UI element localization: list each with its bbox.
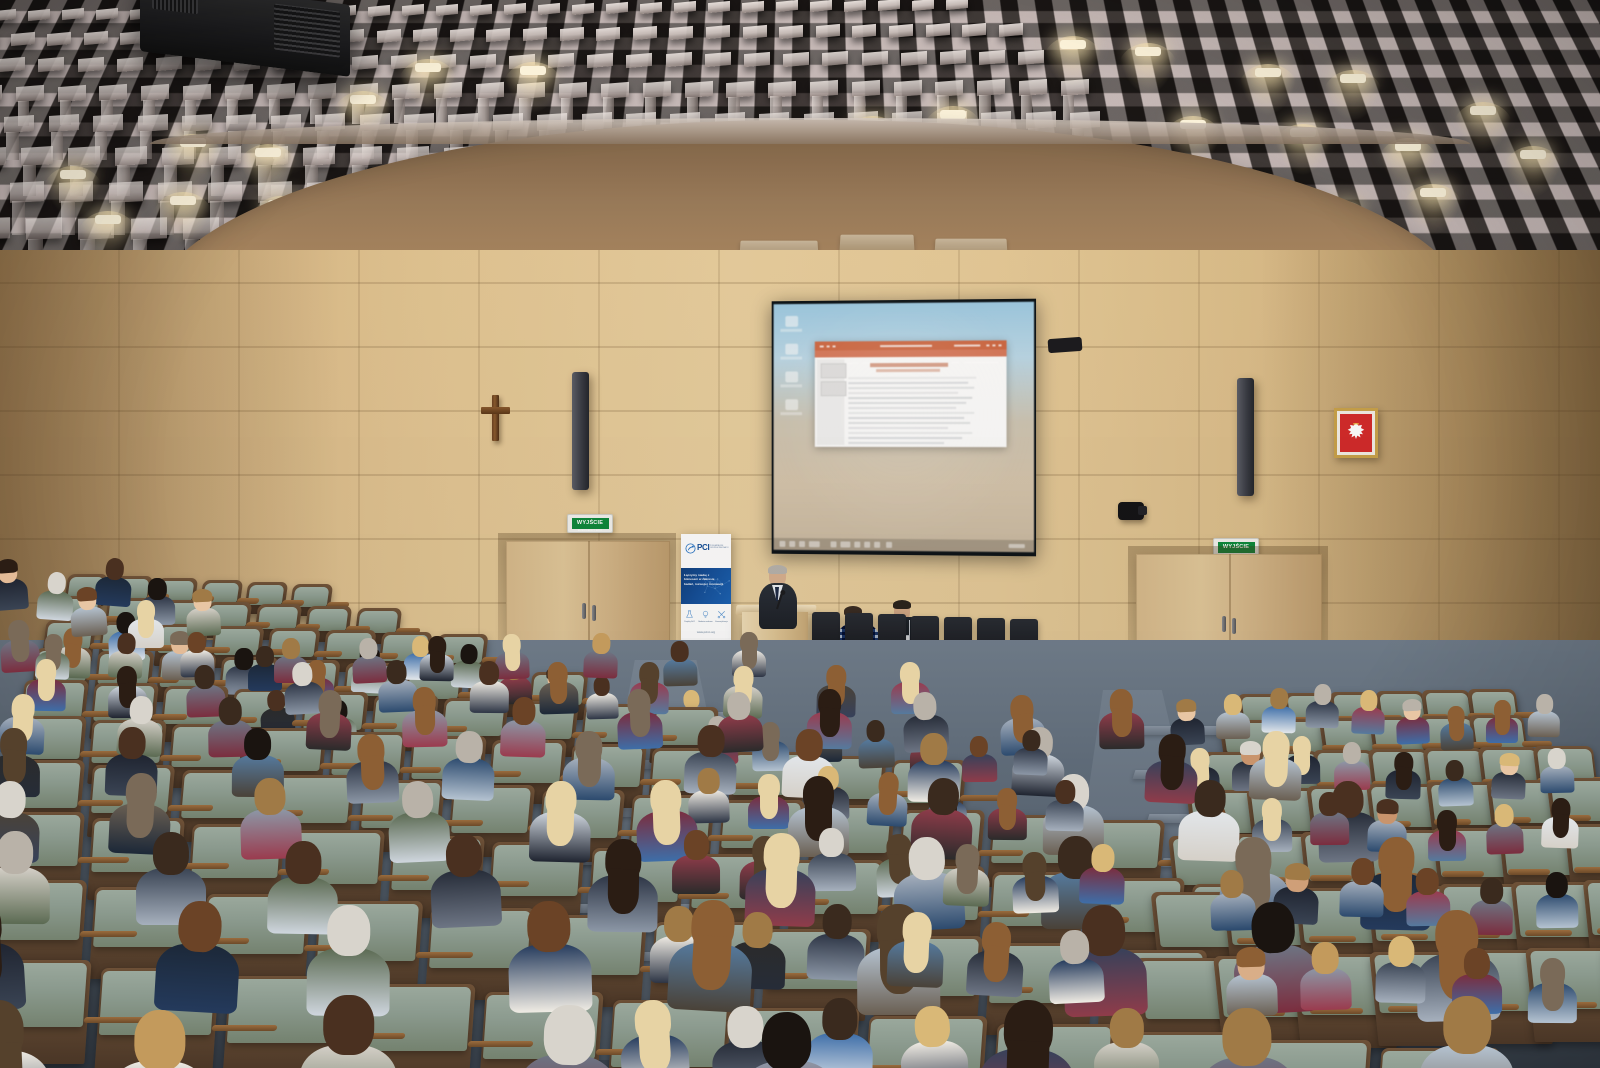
audience-member-torso: [586, 692, 619, 719]
audience-member-hair-long-icon: [999, 805, 1017, 830]
ceiling-baffle: [601, 81, 629, 98]
audience-member-head: [1109, 1008, 1143, 1049]
ceiling-baffle: [156, 56, 182, 71]
ceiling-baffle: [225, 84, 253, 101]
ceiling-baffle: [368, 5, 390, 17]
audience-member-hair-long-icon: [607, 869, 639, 914]
audience-member: [672, 830, 720, 890]
ceiling-baffle: [560, 27, 584, 41]
ceiling-baffle: [685, 81, 713, 98]
ceiling-baffle: [208, 181, 242, 202]
audience-member: [966, 920, 1026, 992]
audience-member: [1339, 857, 1384, 913]
audience-member-head: [386, 659, 407, 684]
audience-member-head: [445, 833, 483, 878]
audience-member-head: [1342, 742, 1361, 764]
ceiling-baffle: [49, 114, 79, 132]
seat-armrest: [347, 815, 393, 821]
ceiling-baffle: [643, 81, 671, 98]
powerpoint-ribbon: [815, 349, 1007, 357]
ceiling-baffle: [303, 146, 335, 166]
bulb-icon: [701, 610, 710, 619]
audience-member: [529, 780, 592, 856]
audience-member-head: [970, 736, 988, 758]
door-handle-icon[interactable]: [592, 605, 596, 621]
ceiling-baffle: [267, 83, 295, 100]
ceiling-spotlight: [170, 196, 196, 205]
audience-member-hair-long-icon: [1495, 714, 1509, 735]
ceiling-baffle: [743, 25, 767, 39]
audience-member-hair-long-icon: [550, 678, 568, 703]
ceiling-baffle: [726, 81, 754, 98]
audience-member-head: [218, 696, 242, 724]
audience-member-head: [401, 780, 434, 819]
slide-body-line: [848, 427, 948, 429]
ceiling-baffle: [450, 28, 474, 42]
audience-member-torso: [1486, 823, 1524, 855]
audience-member: [1199, 1007, 1296, 1068]
ceiling-baffle: [640, 2, 662, 14]
ceiling-baffle: [548, 53, 574, 68]
audience-member-head: [1193, 779, 1226, 817]
ceiling-baffle: [0, 217, 10, 240]
ceiling-spotlight: [255, 148, 281, 157]
slide-body-line: [848, 412, 974, 414]
audience-member-torso: [1438, 777, 1474, 807]
audience-member-head: [1443, 996, 1492, 1054]
ceiling-baffle-fin: [12, 201, 26, 235]
ceiling-baffle: [47, 32, 71, 46]
banner-headline-band: Łączymy naukę z biznesem w zakresie bada…: [681, 568, 731, 604]
audience-member: [857, 719, 895, 765]
audience-member-torso: [508, 943, 593, 1013]
audience-member: [0, 998, 51, 1068]
projector-mount-icon: [1048, 337, 1083, 353]
audience-member-torso: [1048, 957, 1105, 1005]
audience-member-hair-icon: [1284, 862, 1310, 880]
audience-member-hair-long-icon: [1449, 720, 1464, 742]
ceiling-baffle: [109, 181, 143, 202]
desktop-icon-label: [780, 384, 802, 387]
audience-member-head: [134, 1010, 186, 1068]
audience-member: [1528, 958, 1577, 1019]
audience-member-head: [1055, 780, 1075, 804]
audience-member: [68, 587, 107, 634]
audience-member-head: [0, 831, 33, 874]
slide-body-line: [848, 402, 966, 404]
audience-member-head: [1312, 942, 1339, 974]
ceiling-baffle: [26, 217, 62, 240]
audience-member: [1437, 759, 1473, 803]
audience-member-torso: [1536, 894, 1579, 929]
ceiling-baffle: [58, 84, 86, 101]
audience-member: [1216, 694, 1250, 736]
audience-member-head: [479, 661, 499, 685]
audience-member: [1419, 995, 1514, 1068]
ceiling-baffle: [742, 0, 764, 12]
ceiling-baffle: [470, 54, 496, 69]
audience-member-head: [1388, 936, 1415, 968]
banner-logo-area: PCI PODKARPACKIE CENTRUM INNOWACJI: [681, 534, 731, 568]
audience-member-torso: [1305, 701, 1339, 729]
ceiling-baffle: [572, 2, 594, 14]
audience-member: [0, 559, 29, 608]
audience-member-head: [866, 720, 886, 743]
audience-member: [1375, 935, 1427, 998]
ceiling-baffle: [901, 51, 927, 66]
audience-member: [507, 900, 593, 1005]
seat-armrest: [77, 857, 129, 863]
ceiling-baffle: [894, 80, 922, 97]
audience-member-head: [1091, 844, 1115, 873]
audience-member-head: [244, 728, 271, 760]
ceiling-baffle: [977, 79, 1005, 96]
ceiling-baffle: [377, 28, 401, 42]
audience-member-head: [697, 725, 725, 758]
auditorium-photo: WYJŚCIE EMERGENCY EXIT WYJŚCIE EMERGENCY…: [0, 0, 1600, 1068]
flask-icon: [685, 610, 694, 619]
audience-member-torso: [1540, 765, 1575, 794]
ceiling-baffle: [183, 84, 211, 101]
ceiling-baffle: [16, 85, 44, 102]
ceiling-baffle: [68, 146, 100, 166]
audience-member: [1225, 947, 1278, 1011]
audience-member-head: [282, 638, 300, 659]
audience-member-head: [1351, 858, 1375, 886]
seat-armrest: [79, 931, 137, 937]
audience-member-hair-icon: [1236, 947, 1265, 967]
audience-member-head: [543, 1004, 595, 1065]
audience-member-head: [1494, 804, 1514, 828]
audience-member-torso: [1491, 771, 1526, 800]
audience-member: [943, 843, 992, 902]
ceiling-baffle: [308, 83, 336, 100]
seat-armrest: [1574, 867, 1600, 873]
audience-member-head: [117, 632, 136, 654]
presenter-at-podium: [755, 566, 801, 626]
slide-body-line: [848, 392, 958, 394]
seat-armrest: [167, 805, 213, 811]
audience-member-hair-long-icon: [1263, 753, 1287, 787]
audience-member: [1261, 688, 1296, 731]
audience-member-torso: [500, 719, 546, 757]
ceiling-baffle: [0, 147, 6, 167]
slide-body-line: [848, 417, 964, 419]
seat-armrest: [313, 651, 342, 657]
ceiling-spotlight: [1340, 74, 1366, 83]
audience-member: [185, 589, 221, 633]
ceiling-baffle: [182, 114, 212, 132]
audience-member-head: [593, 676, 610, 696]
ceiling-baffle: [666, 52, 692, 67]
audience-member-torso: [1310, 812, 1350, 845]
audience-member-hair-long-icon: [638, 1029, 671, 1068]
audience-member: [1485, 803, 1524, 850]
audience-member-head: [1221, 1007, 1271, 1066]
projector-vent2-icon: [152, 0, 198, 14]
audience-member-head: [1224, 694, 1242, 715]
audience-member-hair-long-icon: [764, 863, 797, 909]
ceiling-baffle: [350, 146, 382, 166]
banner-icon-label-2: Badania naukowe: [698, 621, 713, 623]
ceiling-baffle: [352, 55, 378, 70]
audience-member-torso: [1375, 961, 1426, 1003]
audience-member-head: [592, 633, 610, 655]
audience-member-hair-long-icon: [414, 707, 435, 736]
ceiling-baffle-fin: [478, 98, 489, 123]
audience-member-head: [926, 777, 959, 816]
audience-member: [1249, 730, 1303, 796]
ceiling-baffle: [822, 51, 848, 66]
ceiling-baffle: [486, 27, 510, 41]
ceiling-baffle: [93, 114, 123, 132]
polish-coat-of-arms: [1334, 408, 1378, 458]
audience-member: [978, 998, 1077, 1068]
projector-vent-icon: [274, 4, 340, 58]
audience-member: [306, 904, 390, 1008]
audience-member: [667, 898, 756, 1005]
audience-member: [1486, 700, 1518, 740]
powerpoint-window: [815, 340, 1007, 447]
pci-logo-icon: [685, 543, 696, 554]
audience-member: [442, 730, 497, 796]
audience-member-hair-long-icon: [1025, 871, 1046, 901]
audience-member-torso: [583, 650, 618, 679]
presenter-hair-icon: [768, 565, 787, 574]
audience-member-head: [253, 777, 286, 815]
slide-body-line: [848, 407, 956, 409]
audience-member: [1310, 792, 1350, 841]
ceiling-baffle: [669, 26, 693, 40]
audience-member-hair-icon: [1500, 753, 1520, 767]
audience-member-hair-long-icon: [1112, 708, 1132, 737]
desktop-icon-folder: [785, 371, 798, 382]
slide-body-line: [848, 422, 970, 424]
ceiling-baffle: [138, 114, 168, 132]
ceiling-baffle: [21, 146, 53, 166]
ceiling-baffle: [768, 80, 796, 97]
ceiling-baffle: [1019, 79, 1047, 96]
door-handle-icon[interactable]: [1232, 618, 1236, 634]
wall-camera-icon: [1118, 502, 1144, 520]
ceiling-baffle: [4, 115, 34, 133]
organizer-hair-icon: [893, 600, 911, 609]
audience-member-head: [327, 905, 371, 957]
audience-member-head: [1360, 690, 1378, 711]
audience-member-torso: [153, 942, 240, 1015]
audience-member-hair-long-icon: [629, 708, 650, 738]
slide-body-line: [848, 382, 968, 384]
audience-member-head: [726, 691, 751, 720]
banner-icon-label-3: Komercjalizacja: [714, 621, 729, 623]
ceiling-spotlight: [1520, 150, 1546, 159]
ceiling-baffle: [999, 23, 1023, 37]
banner-headline-text: Łączymy naukę z biznesem w zakresie bada…: [684, 573, 724, 586]
audience-member-torso: [1339, 880, 1384, 917]
exit-sign-left-panel: WYJŚCIE: [572, 518, 609, 529]
audience-member-hair-long-icon: [762, 738, 779, 762]
seat-armrest: [377, 875, 429, 881]
audience-member-head: [129, 695, 154, 724]
audience-member-head: [697, 768, 719, 794]
ceiling-spotlight: [95, 215, 121, 224]
ceiling-baffle: [99, 84, 127, 101]
audience-member-hair-long-icon: [429, 651, 445, 673]
crucifix-icon: [492, 395, 499, 441]
audience-member-head: [1548, 748, 1566, 769]
ceiling-baffle: [810, 80, 838, 97]
audience-member-head: [914, 1005, 951, 1048]
audience-member-head: [907, 836, 946, 881]
audience-member-hair-long-icon: [903, 936, 930, 973]
audience-member-head: [1536, 694, 1553, 714]
audience-member: [962, 736, 997, 779]
banner-logo-subtext: PODKARPACKIE CENTRUM INNOWACJI: [710, 545, 729, 549]
ceiling-baffle: [141, 84, 169, 101]
door-handle-icon[interactable]: [582, 603, 586, 619]
speaker-column-right: [1237, 378, 1254, 496]
audience-member-head: [921, 733, 948, 765]
exit-sign-left: WYJŚCIE EMERGENCY EXIT: [567, 514, 613, 533]
audience-member: [1079, 843, 1126, 900]
audience-member-head: [1416, 868, 1439, 895]
audience-member-head: [1546, 872, 1568, 898]
audience-member: [1541, 797, 1580, 845]
ceiling-baffle: [0, 85, 2, 102]
audience-member-hair-long-icon: [1395, 767, 1411, 790]
audience-member-head: [1270, 688, 1288, 709]
ceiling-baffle: [117, 56, 143, 71]
audience-member-head: [670, 641, 688, 663]
audience-member-hair-long-icon: [1005, 1040, 1050, 1068]
audience-member-hair-long-icon: [0, 1042, 24, 1068]
audience-member: [500, 696, 547, 753]
ceiling-baffle: [935, 80, 963, 97]
ceiling-baffle: [783, 51, 809, 66]
ceiling-spotlight: [415, 63, 441, 72]
ceiling-spotlight: [350, 95, 376, 104]
audience-member: [420, 636, 455, 679]
powerpoint-slide-pane: [817, 359, 845, 445]
desktop-icon-label: [780, 357, 802, 360]
audience-member: [1395, 699, 1429, 741]
audience-member: [300, 995, 398, 1068]
audience-member-head: [187, 632, 205, 654]
audience-member-head: [177, 900, 223, 954]
ceiling-baffle: [705, 52, 731, 67]
ceiling-baffle: [744, 52, 770, 67]
audience-member-hair-long-icon: [360, 756, 384, 790]
ceiling-baffle: [626, 53, 652, 68]
ceiling-baffle: [10, 181, 44, 202]
audience-member-torso: [1079, 867, 1125, 905]
white-eagle-icon: [1345, 421, 1367, 445]
desktop-icon-trash: [785, 344, 798, 355]
ceiling-baffle: [962, 23, 986, 37]
audience-member: [1351, 689, 1386, 731]
ceiling-baffle: [28, 9, 50, 21]
audience-member-torso: [1528, 710, 1561, 737]
ceiling-spotlight: [1420, 188, 1446, 197]
audience-member-hair-long-icon: [1439, 826, 1456, 851]
audience-member-torso: [1351, 707, 1385, 735]
ceiling-spotlight: [520, 66, 546, 75]
ceiling-spotlight: [1060, 40, 1086, 49]
audience-member-torso: [858, 738, 895, 769]
ceiling-baffle: [889, 24, 913, 38]
audience-member-hair-long-icon: [319, 709, 340, 739]
ceiling-baffle: [470, 4, 492, 16]
audience-member-head: [267, 689, 286, 711]
audience-member-head: [913, 691, 938, 720]
desktop-icon-documents: [785, 399, 798, 410]
audience-member: [585, 675, 618, 716]
audience-member-hair-icon: [1402, 699, 1421, 712]
banner-icon-row: Projekty B+R Badania naukowe Komercjaliz…: [681, 608, 731, 638]
seat-armrest: [361, 723, 398, 729]
ceiling-spotlight: [1470, 106, 1496, 115]
audience-member-torso: [442, 757, 496, 801]
door-handle-icon[interactable]: [1222, 616, 1226, 632]
seat-armrest: [415, 952, 473, 958]
audience-member: [898, 1004, 969, 1068]
audience-member-head: [819, 828, 844, 858]
slide-body-line: [848, 432, 972, 434]
ceiling-spotlight: [60, 170, 86, 179]
audience-member-torso: [962, 754, 997, 783]
audience-member-hair-long-icon: [546, 807, 574, 847]
audience-member-head: [1314, 684, 1332, 705]
audience-member: [1491, 753, 1527, 796]
slide-body-line: [848, 387, 974, 389]
audience-member: [616, 689, 663, 746]
audience-member-hair-long-icon: [1542, 979, 1564, 1011]
ceiling-baffle: [1018, 50, 1044, 65]
ceiling-baffle: [596, 26, 620, 40]
seat-armrest: [1525, 930, 1573, 936]
audience-member-hair-icon: [0, 558, 19, 574]
audience-member-hair-long-icon: [760, 792, 779, 819]
audience-member: [988, 788, 1027, 836]
audience-member: [1299, 941, 1351, 1005]
audience-member-hair-long-icon: [2, 750, 25, 783]
audience-member-head: [684, 830, 709, 860]
audience-member: [154, 899, 243, 1007]
banner-logo-text: PCI: [697, 544, 709, 552]
speaker-column-left: [572, 372, 589, 490]
slide-title-text: [870, 363, 948, 367]
desktop-icon-label: [780, 329, 802, 332]
seat-armrest: [159, 755, 201, 761]
audience-member: [1536, 872, 1579, 925]
audience-member: [1539, 748, 1574, 791]
audience-member: [1099, 688, 1145, 744]
seat-armrest: [399, 767, 441, 773]
audience-member: [748, 774, 790, 825]
windows-taskbar: [774, 538, 1034, 552]
audience-member: [1305, 684, 1339, 726]
slide-body-line: [848, 377, 976, 379]
audience-member-head: [359, 637, 378, 659]
ceiling-baffle: [115, 146, 147, 166]
ceiling-baffle: [38, 57, 64, 72]
audience-member-head: [285, 840, 322, 884]
ceiling-baffle: [940, 50, 966, 65]
audience-member-head: [1220, 869, 1245, 898]
ceiling-baffle: [844, 0, 866, 12]
audience-member-torso: [1013, 747, 1048, 776]
audience-member: [738, 1011, 837, 1068]
